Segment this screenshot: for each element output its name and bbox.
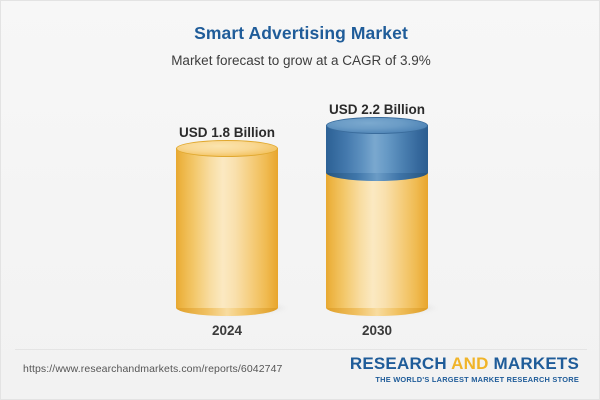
brand-wordmark-and: AND	[451, 354, 488, 373]
bar-group-2024: USD 1.8 Billion 2024	[176, 81, 278, 346]
value-label-2024: USD 1.8 Billion	[176, 125, 278, 140]
cylinder-side-base-2030	[326, 173, 428, 308]
brand-wordmark-research: RESEARCH	[350, 354, 451, 373]
cylinder-body-2030	[326, 125, 428, 308]
bar-segment-base-2024	[176, 148, 278, 308]
category-label-2030: 2030	[326, 323, 428, 338]
category-label-2024: 2024	[176, 323, 278, 338]
bar-group-2030: USD 2.2 Billion 2	[326, 81, 428, 346]
chart-title: Smart Advertising Market	[1, 23, 600, 44]
cylinder-top-cap-2024	[176, 140, 278, 157]
footer-divider	[15, 349, 587, 350]
brand-logo[interactable]: RESEARCH AND MARKETS THE WORLD'S LARGEST…	[350, 355, 579, 384]
brand-wordmark-markets: MARKETS	[489, 354, 579, 373]
cylinder-2024	[176, 148, 278, 308]
brand-tagline: THE WORLD'S LARGEST MARKET RESEARCH STOR…	[350, 375, 579, 384]
market-forecast-chart-card: Smart Advertising Market Market forecast…	[0, 0, 600, 400]
cylinder-top-cap-2030	[326, 117, 428, 134]
source-url[interactable]: https://www.researchandmarkets.com/repor…	[23, 363, 282, 375]
bar-segment-growth-2030	[326, 125, 428, 173]
chart-subtitle: Market forecast to grow at a CAGR of 3.9…	[1, 53, 600, 68]
cylinder-2030	[326, 125, 428, 308]
value-label-2030: USD 2.2 Billion	[326, 102, 428, 117]
bar-segment-base-2030	[326, 173, 428, 308]
brand-wordmark: RESEARCH AND MARKETS	[350, 355, 579, 373]
plot-area: USD 1.8 Billion 2024 USD 2.2 Billion	[1, 81, 600, 346]
cylinder-body-2024	[176, 148, 278, 308]
cylinder-side-2024	[176, 148, 278, 308]
